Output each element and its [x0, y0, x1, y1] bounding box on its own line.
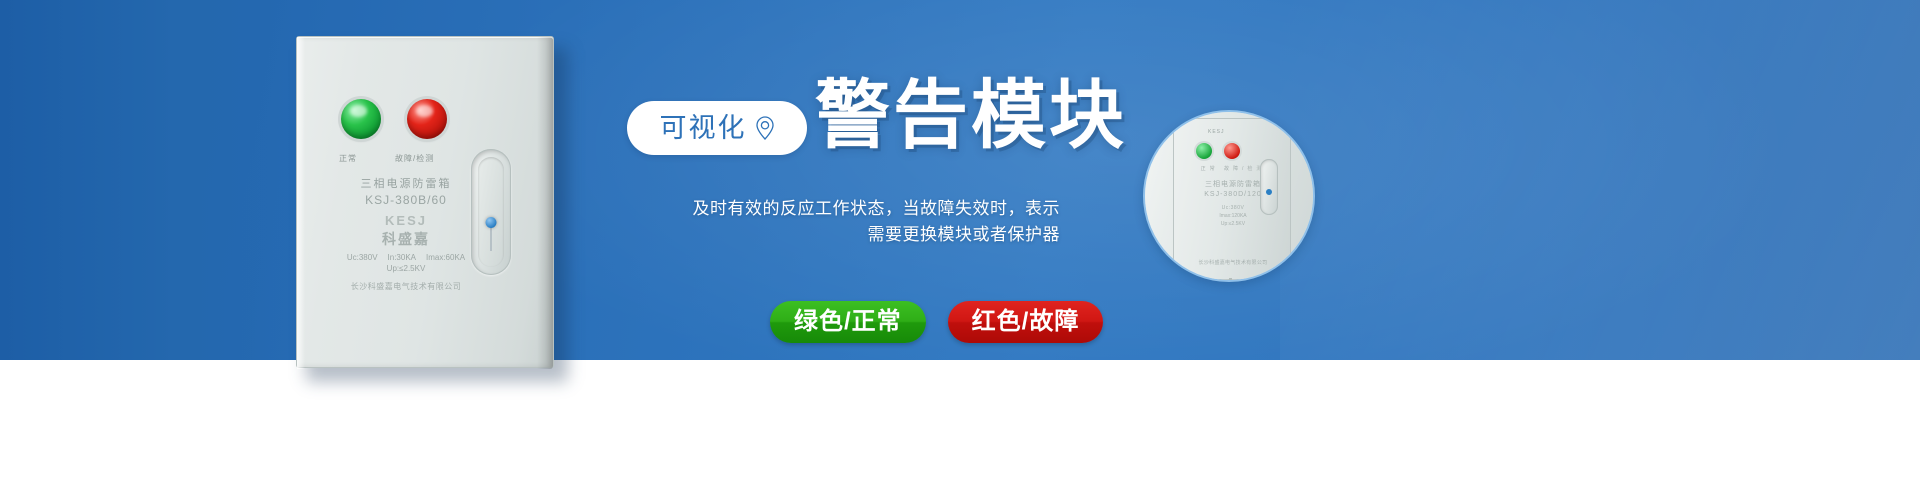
description-text: 及时有效的反应工作状态，当故障失效时，表示 需要更换模块或者保护器 [640, 196, 1060, 249]
inset-handle-knob [1266, 189, 1272, 195]
inset-spec-2: Imax:120KA [1174, 213, 1292, 219]
device-circle-inset: KESJ 正常 故障/检测 三相电源防雷箱 KSJ-380D/120 Uc:38… [1143, 110, 1315, 282]
device-company: 长沙科盛嘉电气技术有限公司 [315, 281, 497, 292]
device-handle-knob [486, 217, 497, 228]
inset-indicator-lamp-red [1224, 143, 1240, 159]
banner-stage: 正常 故障/检测 三相电源防雷箱 KSJ-380B/60 KESJ 科盛嘉 Uc… [0, 0, 1920, 500]
device-handle-slot [471, 149, 511, 275]
device-spec: In:30KA [388, 253, 416, 262]
device-spec: Up:≤2.5KV [387, 264, 426, 273]
indicator-lamp-green [341, 99, 381, 139]
device-handle-stem [490, 227, 492, 251]
device-spec: Imax:60KA [426, 253, 465, 262]
device-edge-highlight [297, 37, 305, 369]
inset-brand-en: KESJ [1208, 129, 1225, 135]
visualize-tag: 可视化 [627, 101, 807, 155]
device-product-name: 三相电源防雷箱 [331, 175, 481, 191]
inset-company: 长沙科盛嘉电气技术有限公司 [1174, 259, 1292, 266]
device-spec: Uc:380V [347, 253, 378, 262]
device-brand-cn: 科盛嘉 [331, 229, 481, 249]
device-photo: 正常 故障/检测 三相电源防雷箱 KSJ-380B/60 KESJ 科盛嘉 Uc… [296, 36, 558, 372]
device-model: KSJ-380B/60 [331, 193, 481, 207]
location-pin-icon [755, 116, 775, 140]
device-edge-shadow [537, 37, 553, 369]
status-badge-normal[interactable]: 绿色/正常 [770, 301, 926, 343]
device-label-normal: 正常 [339, 153, 357, 164]
inset-handle-slot [1260, 159, 1278, 215]
device-enclosure: 正常 故障/检测 三相电源防雷箱 KSJ-380B/60 KESJ 科盛嘉 Uc… [296, 36, 554, 368]
inset-indicator-lamp-green [1196, 143, 1212, 159]
inset-device-enclosure: KESJ 正常 故障/检测 三相电源防雷箱 KSJ-380D/120 Uc:38… [1173, 118, 1291, 280]
description-line-2: 需要更换模块或者保护器 [640, 222, 1060, 248]
status-badge-fault[interactable]: 红色/故障 [948, 301, 1104, 343]
visualize-tag-label: 可视化 [660, 115, 747, 142]
status-badge-group: 绿色/正常 红色/故障 [770, 301, 1103, 343]
inset-spec-3: Up:≤2.5KV [1174, 221, 1292, 227]
device-label-fault: 故障/检测 [395, 153, 434, 164]
lamp-gloss [350, 105, 368, 117]
page-title: 警告模块 [815, 78, 1127, 153]
banner-bottom-strip [0, 360, 1920, 500]
description-line-1: 及时有效的反应工作状态，当故障失效时，表示 [640, 196, 1060, 222]
indicator-lamp-red [407, 99, 447, 139]
device-spec-list: Uc:380V In:30KA Imax:60KA Up:≤2.5KV [323, 253, 489, 273]
lamp-gloss [416, 105, 434, 117]
device-brand-en: KESJ [331, 213, 481, 228]
